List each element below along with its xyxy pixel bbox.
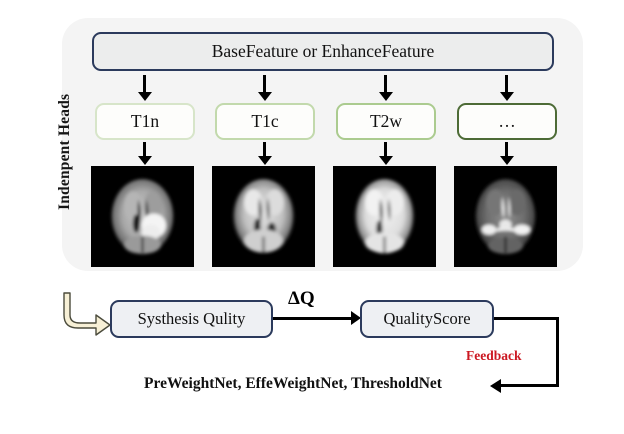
brain-image-t1n [91, 166, 194, 267]
arrow-t2w-to-image [379, 142, 393, 166]
feedback-path-right [556, 317, 559, 386]
head-box-t2w[interactable]: T2w [336, 103, 436, 140]
arrow-t1n-to-image [138, 142, 152, 166]
head-box-ellipsis[interactable]: … [457, 103, 557, 140]
quality-score-box[interactable]: QualityScore [360, 300, 494, 338]
arrow-t1c-to-image [258, 142, 272, 166]
independent-heads-label: Indenpent Heads [52, 72, 78, 232]
base-enhance-feature-label: BaseFeature or EnhanceFeature [212, 41, 435, 62]
arrow-ellipsis-to-image [500, 142, 514, 166]
feedback-arrow-head [490, 379, 501, 393]
head-label-t1n: T1n [131, 111, 159, 132]
head-label-t2w: T2w [370, 111, 402, 132]
arrow-header-to-ellipsis [500, 75, 514, 101]
arrow-header-to-t1n [138, 75, 152, 101]
brain-image-t2w [333, 166, 436, 267]
head-box-t1c[interactable]: T1c [215, 103, 315, 140]
head-label-ellipsis: … [498, 111, 516, 132]
brain-image-t1c [212, 166, 315, 267]
arrow-synthesis-to-quality-shaft [273, 317, 353, 320]
feedback-label: Feedback [466, 348, 522, 364]
arrow-header-to-t1c [258, 75, 272, 101]
figure-canvas: Indenpent Heads BaseFeature or EnhanceFe… [0, 0, 624, 434]
feedback-path-top [494, 317, 559, 320]
feedback-path-bottom [500, 384, 559, 387]
entry-arrow-icon [62, 289, 114, 337]
synthesis-quality-box[interactable]: Systhesis Qulity [110, 300, 273, 338]
brain-image-ellipsis [454, 166, 557, 267]
arrow-header-to-t2w [379, 75, 393, 101]
weight-nets-label: PreWeightNet, EffeWeightNet, ThresholdNe… [108, 375, 478, 393]
quality-score-label: QualityScore [383, 309, 470, 329]
delta-q-label: ΔQ [288, 288, 315, 310]
head-label-t1c: T1c [251, 111, 278, 132]
base-enhance-feature-box[interactable]: BaseFeature or EnhanceFeature [92, 32, 554, 71]
synthesis-quality-label: Systhesis Qulity [138, 309, 246, 329]
head-box-t1n[interactable]: T1n [95, 103, 195, 140]
